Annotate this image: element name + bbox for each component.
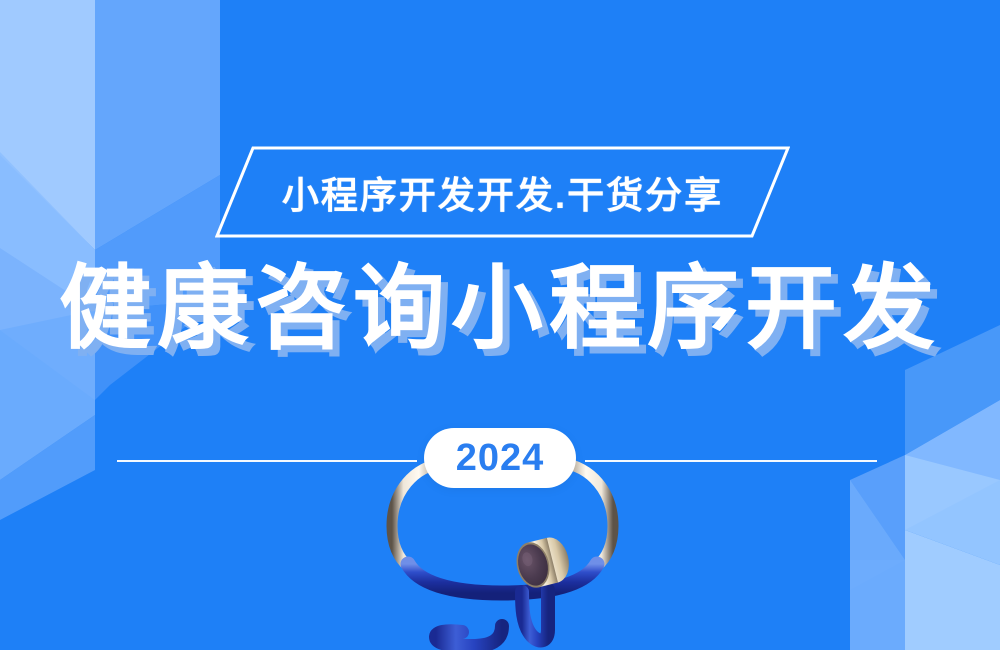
- subtitle-banner: 小程序开发开发.干货分享: [215, 146, 790, 238]
- year-badge: 2024: [424, 428, 576, 488]
- health-consult-miniprogram-banner: 小程序开发开发.干货分享 健康咨询小程序开发: [0, 0, 1000, 650]
- year-badge-text: 2024: [456, 437, 545, 480]
- page-title: 健康咨询小程序开发: [0, 258, 1000, 361]
- subtitle-text: 小程序开发开发.干货分享: [215, 146, 790, 238]
